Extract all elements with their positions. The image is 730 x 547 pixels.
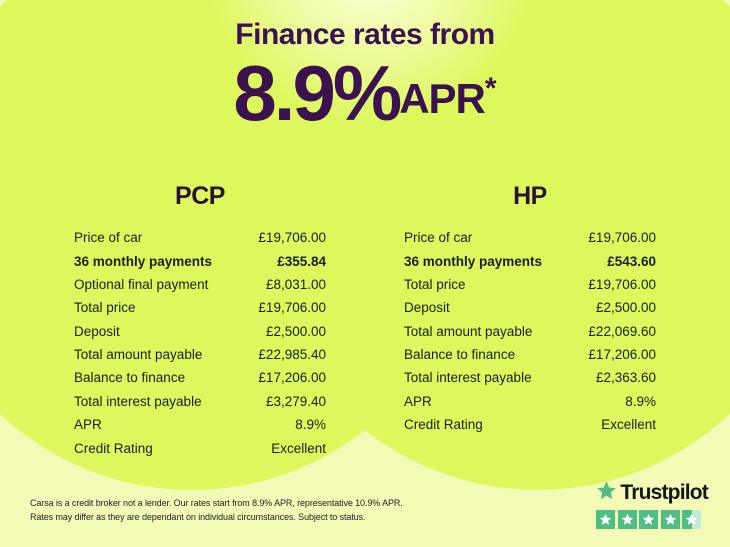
row-label: Deposit	[404, 300, 450, 315]
table-row: Total interest payable£3,279.40	[74, 390, 326, 413]
row-label: Deposit	[74, 324, 120, 339]
row-label: Total price	[404, 277, 466, 292]
rating-star-icon	[618, 510, 637, 529]
row-label: Credit Rating	[404, 417, 483, 432]
trustpilot-wordmark: Trustpilot	[596, 480, 708, 506]
row-label: Price of car	[74, 230, 142, 245]
rate-number: 8.9%	[233, 49, 399, 137]
row-label: Optional final payment	[74, 277, 208, 292]
table-row: Deposit£2,500.00	[74, 320, 326, 343]
row-value: £22,069.60	[588, 324, 656, 339]
finance-tables: PCPPrice of car£19,706.0036 monthly paym…	[0, 182, 730, 460]
row-value: £22,985.40	[258, 347, 326, 362]
table-title: PCP	[74, 182, 326, 211]
row-value: £17,206.00	[258, 370, 326, 385]
table-row: Credit RatingExcellent	[74, 436, 326, 459]
finance-table-pcp: PCPPrice of car£19,706.0036 monthly paym…	[74, 182, 326, 460]
trustpilot-star-rating	[596, 510, 708, 529]
table-row: Total interest payable£2,363.60	[404, 366, 656, 389]
row-label: Total interest payable	[404, 370, 532, 385]
row-label: Total amount payable	[404, 324, 532, 339]
row-value: £3,279.40	[266, 394, 326, 409]
rating-star-icon	[661, 510, 680, 529]
row-label: Balance to finance	[74, 370, 185, 385]
row-label: Total amount payable	[74, 347, 202, 362]
table-row: Deposit£2,500.00	[404, 296, 656, 319]
headline-rate: 8.9%APR*	[0, 54, 730, 132]
promo-banner: Finance rates from 8.9%APR* PCPPrice of …	[0, 0, 730, 547]
table-row: APR8.9%	[74, 413, 326, 436]
rating-star-icon	[596, 510, 615, 529]
table-row: APR8.9%	[404, 390, 656, 413]
trustpilot-name: Trustpilot	[620, 481, 708, 505]
row-value: £19,706.00	[258, 230, 326, 245]
row-value: £8,031.00	[266, 277, 326, 292]
row-value: Excellent	[601, 417, 656, 432]
table-row: 36 monthly payments£543.60	[404, 249, 656, 272]
table-row: Price of car£19,706.00	[74, 226, 326, 249]
finance-table-hp: HPPrice of car£19,706.0036 monthly payme…	[404, 182, 656, 460]
row-value: £17,206.00	[588, 347, 656, 362]
row-label: Price of car	[404, 230, 472, 245]
disclaimer-line-1: Carsa is a credit broker not a lender. O…	[30, 497, 403, 511]
row-label: Total price	[74, 300, 136, 315]
table-row: Price of car£19,706.00	[404, 226, 656, 249]
row-value: Excellent	[271, 441, 326, 456]
rate-suffix: APR	[399, 75, 485, 122]
row-value: £19,706.00	[258, 300, 326, 315]
table-row: Total price£19,706.00	[74, 296, 326, 319]
asterisk-marker: *	[485, 72, 497, 105]
table-row: Balance to finance£17,206.00	[74, 366, 326, 389]
table-body: Price of car£19,706.0036 monthly payment…	[404, 226, 656, 436]
table-body: Price of car£19,706.0036 monthly payment…	[74, 226, 326, 460]
table-row: Balance to finance£17,206.00	[404, 343, 656, 366]
row-value: £355.84	[277, 254, 326, 269]
row-value: 8.9%	[295, 417, 326, 432]
row-value: £2,500.00	[266, 324, 326, 339]
trustpilot-star-icon	[596, 480, 617, 506]
row-value: £2,500.00	[596, 300, 656, 315]
row-value: 8.9%	[625, 394, 656, 409]
row-label: APR	[404, 394, 432, 409]
row-value: £2,363.60	[596, 370, 656, 385]
table-row: Total amount payable£22,069.60	[404, 320, 656, 343]
row-label: 36 monthly payments	[74, 254, 212, 269]
table-row: Credit RatingExcellent	[404, 413, 656, 436]
table-row: Total amount payable£22,985.40	[74, 343, 326, 366]
table-row: Optional final payment£8,031.00	[74, 273, 326, 296]
legal-disclaimer: Carsa is a credit broker not a lender. O…	[30, 497, 403, 525]
row-label: Credit Rating	[74, 441, 153, 456]
headline-eyebrow: Finance rates from	[0, 18, 730, 52]
row-label: Balance to finance	[404, 347, 515, 362]
row-value: £19,706.00	[588, 230, 656, 245]
rating-star-icon	[639, 510, 658, 529]
row-label: 36 monthly payments	[404, 254, 542, 269]
rating-star-half-icon	[682, 510, 701, 529]
table-row: 36 monthly payments£355.84	[74, 249, 326, 272]
table-row: Total price£19,706.00	[404, 273, 656, 296]
table-title: HP	[404, 182, 656, 211]
disclaimer-line-2: Rates may differ as they are dependant o…	[30, 511, 403, 525]
row-value: £19,706.00	[588, 277, 656, 292]
row-label: Total interest payable	[74, 394, 202, 409]
trustpilot-badge[interactable]: Trustpilot	[596, 480, 708, 529]
row-value: £543.60	[607, 254, 656, 269]
row-label: APR	[74, 417, 102, 432]
